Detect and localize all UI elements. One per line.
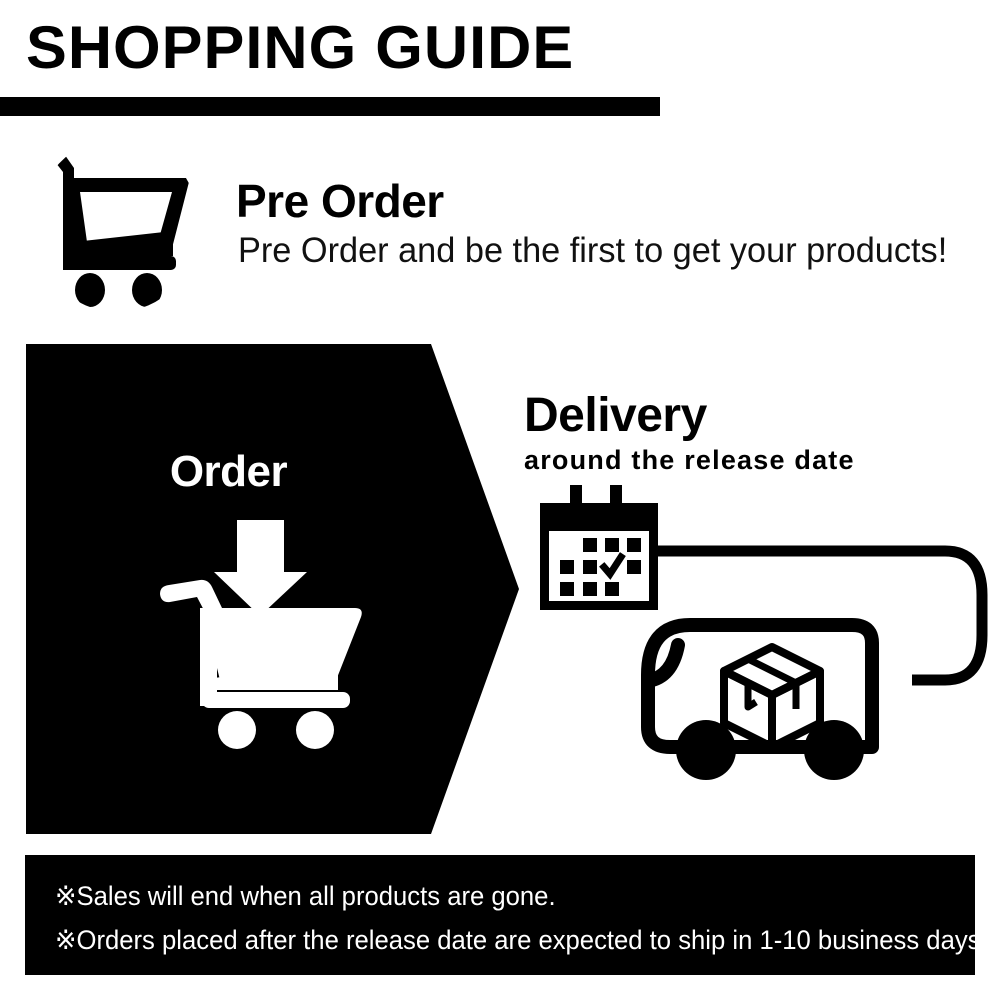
- delivery-subheading: around the release date: [524, 447, 855, 474]
- shopping-guide-infographic: SHOPPING GUIDE: [0, 0, 1000, 1000]
- parcel-box-icon: [724, 647, 820, 747]
- shopping-cart-circle-icon: [30, 138, 205, 313]
- page-title: SHOPPING GUIDE: [26, 18, 574, 78]
- title-underline-bar: [0, 97, 660, 116]
- delivery-graphic: [520, 485, 990, 815]
- steps-section: Order Delivery around the: [0, 330, 1000, 845]
- delivery-heading: Delivery: [524, 392, 707, 440]
- calendar-check-icon: [540, 485, 658, 610]
- preorder-section: Pre Order Pre Order and be the first to …: [0, 130, 1000, 320]
- order-step-label: Order: [26, 450, 431, 494]
- note-line-1: ※Sales will end when all products are go…: [55, 883, 556, 910]
- preorder-subtitle: Pre Order and be the first to get your p…: [238, 233, 947, 268]
- preorder-heading: Pre Order: [236, 178, 444, 224]
- note-line-2: ※Orders placed after the release date ar…: [55, 927, 988, 954]
- notes-box: ※Sales will end when all products are go…: [25, 855, 975, 975]
- cart-with-down-arrow-icon: [152, 520, 367, 750]
